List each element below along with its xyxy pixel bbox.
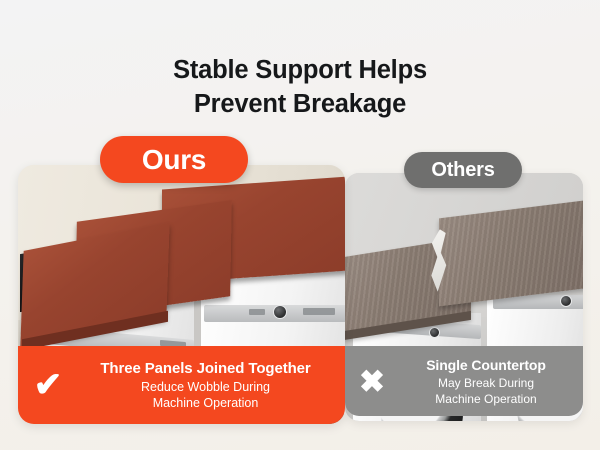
page-title-line-1: Stable Support Helps	[0, 53, 600, 87]
ours-feature-text: Three Panels Joined Together Reduce Wobb…	[78, 359, 345, 412]
others-countertop-slab-right	[439, 200, 583, 307]
ours-feature-sub-line-2: Machine Operation	[78, 395, 333, 412]
others-knob-right	[560, 295, 572, 307]
ours-feature-sub-line-1: Reduce Wobble During	[78, 379, 333, 396]
check-icon: ✔	[18, 368, 78, 402]
ours-knob-right	[273, 305, 287, 319]
ours-display-right-secondary	[249, 309, 265, 315]
others-feature-banner: ✖ Single Countertop May Break During Mac…	[345, 346, 583, 416]
comparison-section: ✖ Single Countertop May Break During Mac…	[18, 165, 583, 424]
page-title: Stable Support Helps Prevent Breakage	[0, 53, 600, 121]
others-feature-sub-line-2: Machine Operation	[399, 391, 573, 408]
others-badge: Others	[404, 152, 522, 188]
ours-feature-banner: ✔ Three Panels Joined Together Reduce Wo…	[18, 346, 345, 424]
page-title-line-2: Prevent Breakage	[0, 87, 600, 121]
others-feature-text: Single Countertop May Break During Machi…	[399, 355, 583, 408]
others-feature-sub-line-1: May Break During	[399, 375, 573, 392]
ours-badge: Ours	[100, 136, 248, 183]
ours-display-right	[303, 308, 335, 315]
ours-feature-heading: Three Panels Joined Together	[78, 359, 333, 379]
cross-icon: ✖	[345, 366, 399, 397]
others-knob-left	[429, 327, 440, 338]
others-feature-heading: Single Countertop	[399, 355, 573, 375]
